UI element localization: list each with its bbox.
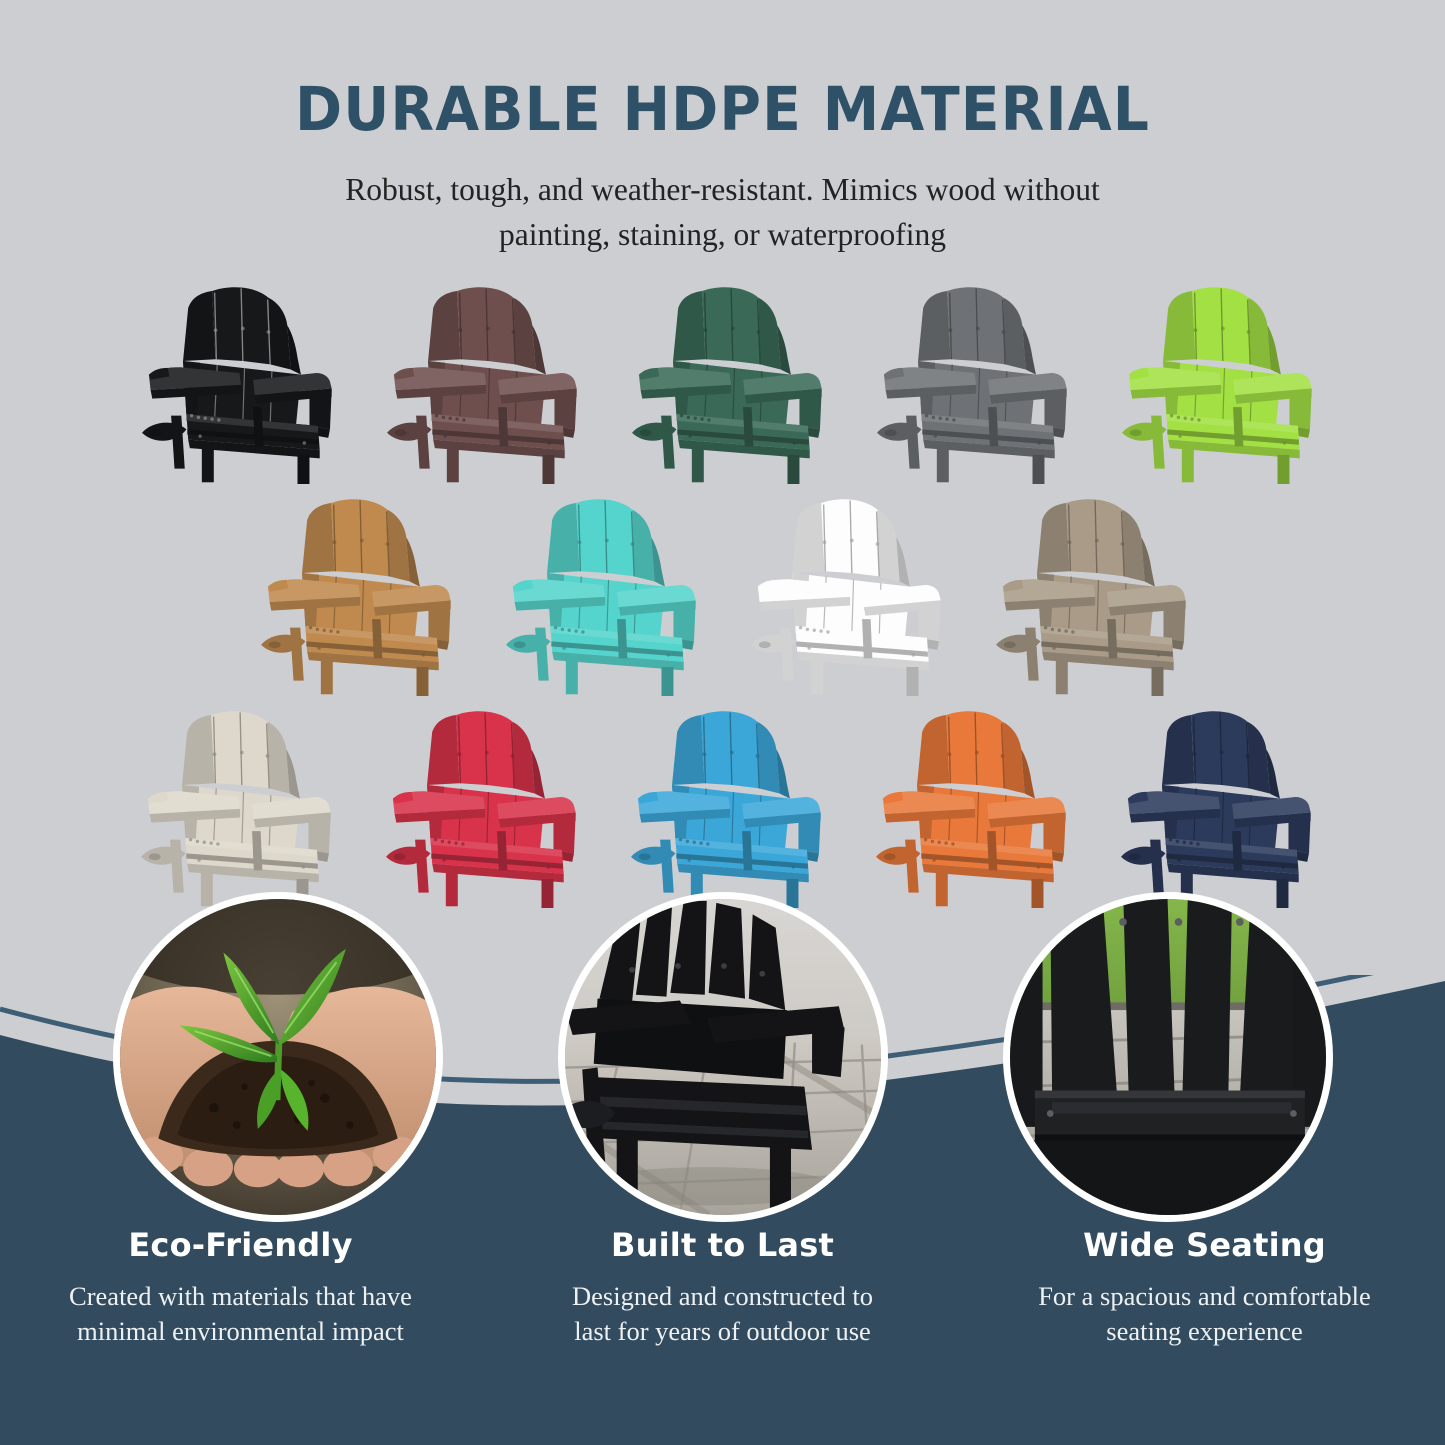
chair-weathered-wood xyxy=(987,491,1193,696)
feature-photo-row xyxy=(0,892,1445,1222)
chair-swatch-white[interactable] xyxy=(731,484,959,702)
feature-description: Created with materials that have minimal… xyxy=(21,1279,461,1348)
chair-left-armrest xyxy=(1128,367,1220,398)
wide-seat-closeup-photo xyxy=(1003,892,1333,1222)
feature-desc-line-2: last for years of outdoor use xyxy=(503,1314,943,1348)
chair-back xyxy=(1037,499,1155,586)
chair-back xyxy=(672,711,790,798)
feature-desc-line-1: Created with materials that have xyxy=(21,1279,461,1313)
chair-row-2 xyxy=(0,484,1445,702)
chair-lime-green xyxy=(1113,279,1319,484)
feature-description: Designed and constructed to last for yea… xyxy=(503,1279,943,1348)
chair-back xyxy=(917,711,1035,798)
chair-swatch-weathered-wood[interactable] xyxy=(976,484,1204,702)
feature-title: Wide Seating xyxy=(985,1228,1425,1263)
feature-eco-friendly: Eco-Friendly Created with materials that… xyxy=(21,1228,461,1348)
chair-back xyxy=(182,711,300,798)
chair-left-armrest xyxy=(1127,791,1219,822)
chair-left-armrest xyxy=(513,579,605,610)
chair-swatch-red[interactable] xyxy=(366,696,594,914)
chair-left-armrest xyxy=(148,367,240,398)
feature-caption-row: Eco-Friendly Created with materials that… xyxy=(0,1228,1445,1348)
chair-turquoise xyxy=(497,491,703,696)
feature-built-to-last: Built to Last Designed and constructed t… xyxy=(503,1228,943,1348)
chair-brown xyxy=(378,279,584,484)
chair-back xyxy=(302,499,420,586)
chair-left-armrest xyxy=(1003,579,1095,610)
patio-chair-illustration xyxy=(565,899,881,1215)
chair-black xyxy=(133,279,339,484)
black-chair-on-patio-photo xyxy=(558,892,888,1222)
chair-left-armrest xyxy=(147,791,239,822)
feature-description: For a spacious and comfortable seating e… xyxy=(985,1279,1425,1348)
page-title: DURABLE HDPE MATERIAL xyxy=(51,78,1395,142)
seedling-illustration xyxy=(120,899,436,1215)
chair-navy-blue xyxy=(1112,703,1318,908)
header-block: DURABLE HDPE MATERIAL Robust, tough, and… xyxy=(0,78,1445,257)
chair-row-1 xyxy=(0,272,1445,490)
subtitle-line-1: Robust, tough, and weather-resistant. Mi… xyxy=(218,168,1228,213)
chair-back xyxy=(792,499,910,586)
chair-blue xyxy=(622,703,828,908)
chair-ivory xyxy=(132,703,338,908)
chair-swatch-dark-green[interactable] xyxy=(612,272,840,490)
chair-swatch-lime-green[interactable] xyxy=(1102,272,1330,490)
chair-swatch-gray[interactable] xyxy=(857,272,1085,490)
chair-white xyxy=(742,491,948,696)
chair-swatch-navy-blue[interactable] xyxy=(1101,696,1329,914)
feature-desc-line-1: Designed and constructed to xyxy=(503,1279,943,1313)
chair-swatch-teak[interactable] xyxy=(241,484,469,702)
chair-back xyxy=(918,287,1036,374)
chair-back xyxy=(428,287,546,374)
feature-desc-line-1: For a spacious and comfortable xyxy=(985,1279,1425,1313)
chair-left-armrest xyxy=(392,791,484,822)
chair-back xyxy=(1163,287,1281,374)
feature-desc-line-2: seating experience xyxy=(985,1314,1425,1348)
chair-swatch-ivory[interactable] xyxy=(121,696,349,914)
chair-left-armrest xyxy=(638,367,730,398)
chair-left-armrest xyxy=(758,579,850,610)
chair-color-grid xyxy=(0,272,1445,914)
chair-orange xyxy=(867,703,1073,908)
chair-back xyxy=(1162,711,1280,798)
subtitle-line-2: painting, staining, or waterproofing xyxy=(218,213,1228,258)
chair-gray xyxy=(868,279,1074,484)
wide-seat-illustration xyxy=(1010,899,1326,1215)
infographic-canvas: DURABLE HDPE MATERIAL Robust, tough, and… xyxy=(0,0,1445,1445)
chair-back xyxy=(427,711,545,798)
feature-title: Built to Last xyxy=(503,1228,943,1263)
chair-dark-green xyxy=(623,279,829,484)
chair-back xyxy=(547,499,665,586)
feature-desc-line-2: minimal environmental impact xyxy=(21,1314,461,1348)
chair-swatch-blue[interactable] xyxy=(611,696,839,914)
chair-back xyxy=(183,287,301,374)
chair-left-armrest xyxy=(882,791,974,822)
page-subtitle: Robust, tough, and weather-resistant. Mi… xyxy=(218,168,1228,257)
chair-red xyxy=(377,703,583,908)
chair-swatch-black[interactable] xyxy=(122,272,350,490)
feature-title: Eco-Friendly xyxy=(21,1228,461,1263)
hands-holding-seedling-photo xyxy=(113,892,443,1222)
chair-swatch-orange[interactable] xyxy=(856,696,1084,914)
feature-wide-seating: Wide Seating For a spacious and comforta… xyxy=(985,1228,1425,1348)
chair-left-armrest xyxy=(268,579,360,610)
chair-back xyxy=(673,287,791,374)
chair-teak xyxy=(252,491,458,696)
chair-left-armrest xyxy=(883,367,975,398)
chair-swatch-brown[interactable] xyxy=(367,272,595,490)
chair-left-armrest xyxy=(393,367,485,398)
chair-swatch-turquoise[interactable] xyxy=(486,484,714,702)
chair-row-3 xyxy=(0,696,1445,914)
chair-left-armrest xyxy=(637,791,729,822)
